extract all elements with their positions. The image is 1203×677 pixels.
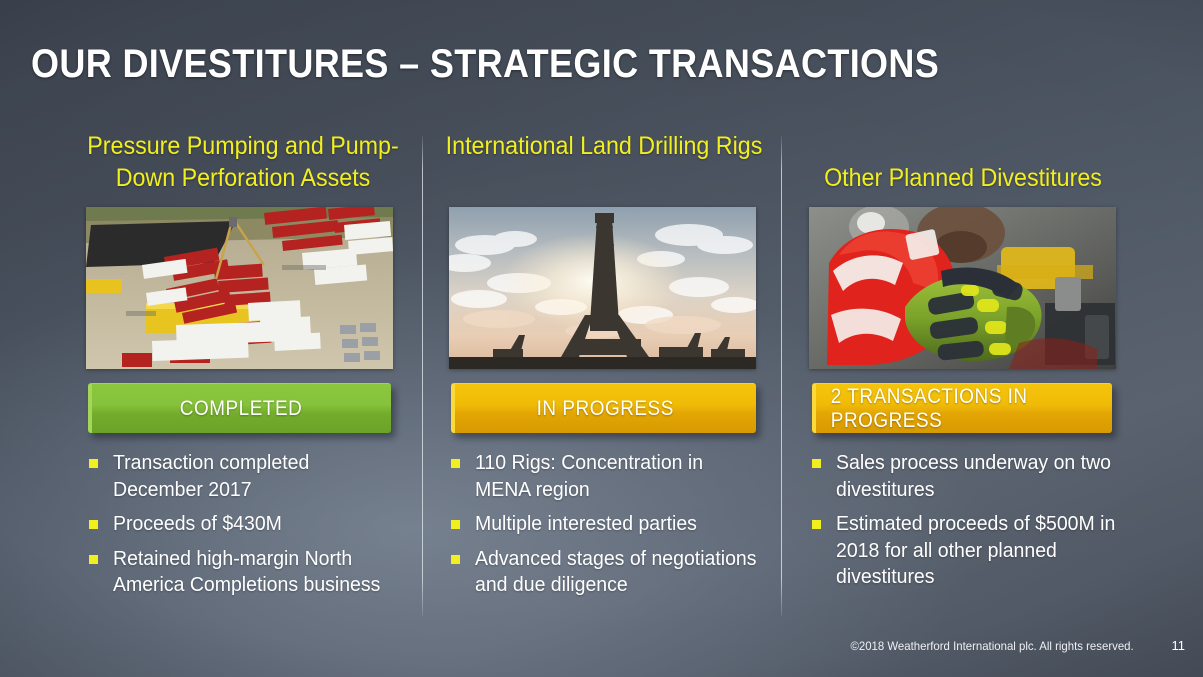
list-item: Retained high-margin North America Compl… — [84, 546, 414, 599]
column-heading: International Land Drilling Rigs — [444, 130, 764, 162]
list-item-text: Estimated proceeds of $500M in 2018 for … — [836, 511, 1131, 591]
status-button-label: COMPLETED — [180, 397, 302, 421]
list-item-text: Retained high-margin North America Compl… — [113, 546, 399, 599]
list-item: Multiple interested parties — [446, 511, 776, 538]
photo-worker-with-glove — [809, 207, 1116, 369]
bullet-list-pressure-pumping: Transaction completed December 2017 Proc… — [84, 450, 414, 607]
status-button-completed[interactable]: COMPLETED — [88, 383, 391, 433]
bullet-square-icon — [812, 459, 821, 468]
page-number: 11 — [1172, 638, 1186, 653]
slide-footer: ©2018 Weatherford International plc. All… — [843, 638, 1185, 653]
slide-canvas: OUR DIVESTITURES – STRATEGIC TRANSACTION… — [0, 0, 1203, 677]
status-button-label: 2 TRANSACTIONS IN PROGRESS — [831, 385, 1097, 433]
list-item: Transaction completed December 2017 — [84, 450, 414, 503]
list-item-text: Advanced stages of negotiations and due … — [475, 546, 761, 599]
list-item-text: Sales process underway on two divestitur… — [836, 450, 1131, 503]
bullet-square-icon — [451, 520, 460, 529]
bullet-square-icon — [451, 459, 460, 468]
column-pressure-pumping: Pressure Pumping and Pump-Down Perforati… — [68, 130, 418, 194]
column-divider-2 — [781, 136, 782, 616]
status-button-in-progress[interactable]: IN PROGRESS — [451, 383, 756, 433]
bullet-square-icon — [89, 459, 98, 468]
column-international-land-rigs: International Land Drilling Rigs — [432, 130, 776, 162]
status-button-label: IN PROGRESS — [537, 397, 674, 421]
bullet-square-icon — [812, 520, 821, 529]
list-item-text: Multiple interested parties — [475, 511, 761, 538]
bullet-list-international-rigs: 110 Rigs: Concentration in MENA region M… — [446, 450, 776, 607]
column-heading: Other Planned Divestitures — [805, 130, 1121, 194]
list-item-text: 110 Rigs: Concentration in MENA region — [475, 450, 761, 503]
list-item: Estimated proceeds of $500M in 2018 for … — [807, 511, 1147, 591]
list-item: Advanced stages of negotiations and due … — [446, 546, 776, 599]
bullet-square-icon — [451, 555, 460, 564]
photo-pressure-pumping-yard — [86, 207, 393, 369]
copyright-text: ©2018 Weatherford International plc. All… — [851, 639, 1134, 653]
list-item: Sales process underway on two divestitur… — [807, 450, 1147, 503]
list-item: Proceeds of $430M — [84, 511, 414, 538]
list-item-text: Transaction completed December 2017 — [113, 450, 399, 503]
column-other-divestitures: Other Planned Divestitures — [793, 130, 1133, 194]
bullet-square-icon — [89, 520, 98, 529]
column-divider-1 — [422, 136, 423, 616]
list-item-text: Proceeds of $430M — [113, 511, 399, 538]
column-heading: Pressure Pumping and Pump-Down Perforati… — [80, 130, 406, 194]
status-button-two-transactions[interactable]: 2 TRANSACTIONS IN PROGRESS — [812, 383, 1112, 433]
bullet-square-icon — [89, 555, 98, 564]
list-item: 110 Rigs: Concentration in MENA region — [446, 450, 776, 503]
photo-drilling-rig-sunset — [449, 207, 756, 369]
page-title: OUR DIVESTITURES – STRATEGIC TRANSACTION… — [31, 44, 939, 84]
bullet-list-other-divestitures: Sales process underway on two divestitur… — [807, 450, 1147, 599]
